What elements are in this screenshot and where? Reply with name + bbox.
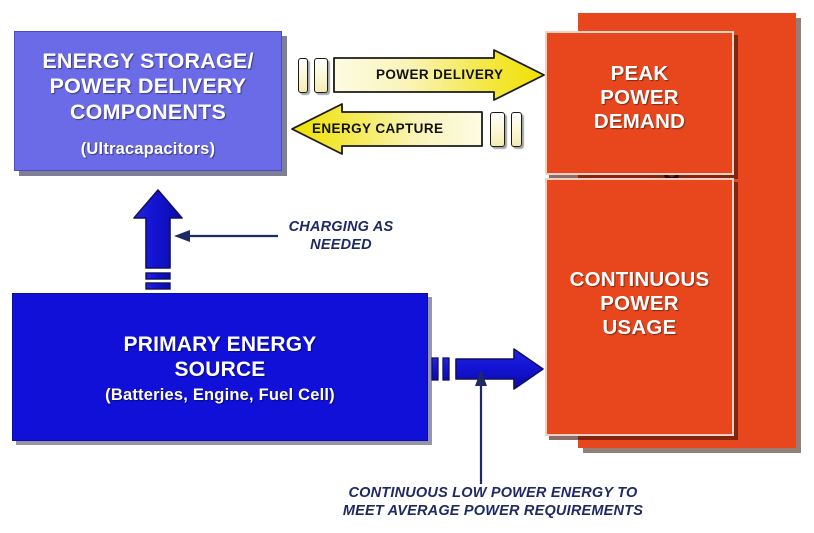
energy-storage-subtitle: (Ultracapacitors) — [15, 140, 281, 159]
continuous-callout-arrow — [466, 368, 496, 486]
energy-storage-box[interactable]: ENERGY STORAGE/ POWER DELIVERY COMPONENT… — [14, 31, 282, 171]
peak-power-demand-label: PEAK POWER DEMAND — [547, 62, 732, 135]
primary-energy-source-box[interactable]: PRIMARY ENERGY SOURCE (Batteries, Engine… — [12, 293, 428, 441]
continuous-callout-text: CONTINUOUS LOW POWER ENERGY TO MEET AVER… — [283, 484, 703, 520]
energy-storage-title: ENERGY STORAGE/ POWER DELIVERY COMPONENT… — [15, 49, 281, 125]
energy-capture-dash-2 — [511, 112, 522, 147]
continuous-power-usage-label: CONTINUOUS POWER USAGE — [547, 268, 732, 341]
power-delivery-text: POWER DELIVERY — [376, 67, 503, 82]
primary-energy-source-subtitle: (Batteries, Engine, Fuel Cell) — [13, 386, 427, 405]
diagram-canvas: ENERGY STORAGE/ POWER DELIVERY COMPONENT… — [0, 0, 814, 533]
peak-power-demand-panel[interactable]: PEAK POWER DEMAND — [545, 31, 734, 175]
charging-callout-arrow — [172, 222, 280, 250]
power-delivery-arrow[interactable]: POWER DELIVERY — [298, 50, 550, 102]
primary-energy-source-title: PRIMARY ENERGY SOURCE — [13, 333, 427, 383]
energy-capture-text: ENERGY CAPTURE — [312, 121, 443, 136]
energy-capture-dash-1 — [490, 112, 505, 147]
energy-capture-arrow[interactable]: ENERGY CAPTURE — [288, 104, 540, 156]
charging-callout-text: CHARGING AS NEEDED — [276, 218, 406, 254]
continuous-power-usage-panel[interactable]: CONTINUOUS POWER USAGE — [545, 178, 734, 436]
